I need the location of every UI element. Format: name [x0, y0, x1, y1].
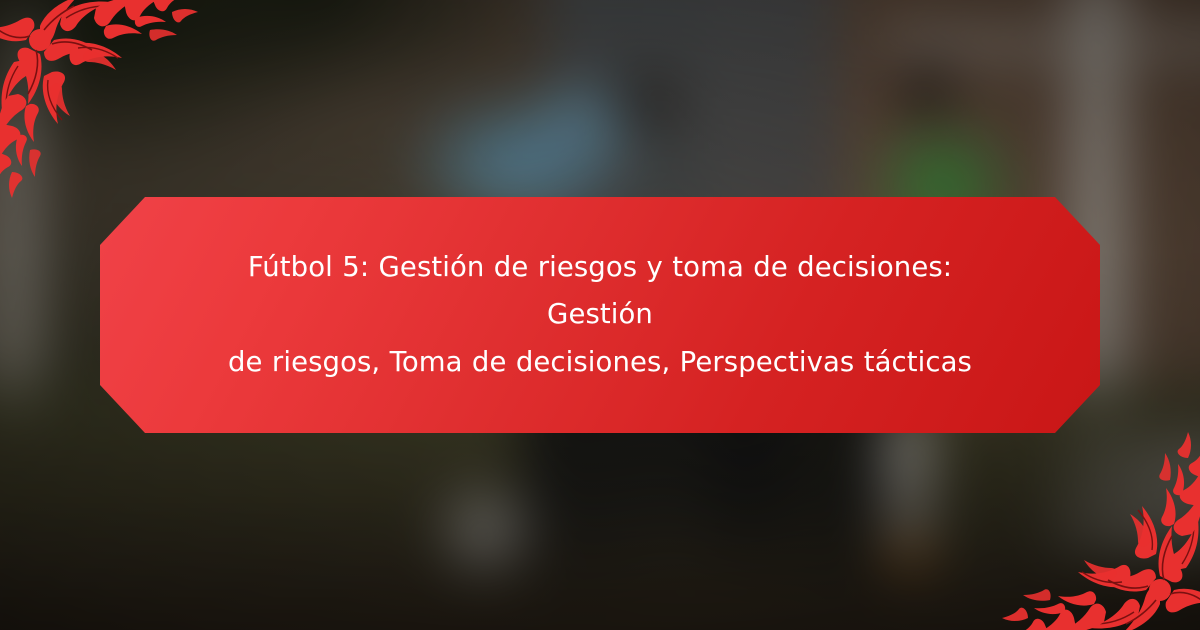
social-card: Fútbol 5: Gestión de riesgos y toma de d… [0, 0, 1200, 630]
page-title: Fútbol 5: Gestión de riesgos y toma de d… [200, 244, 1000, 386]
title-line-2: de riesgos, Toma de decisiones, Perspect… [228, 346, 972, 378]
title-banner: Fútbol 5: Gestión de riesgos y toma de d… [100, 197, 1100, 433]
title-line-1: Fútbol 5: Gestión de riesgos y toma de d… [248, 251, 952, 330]
